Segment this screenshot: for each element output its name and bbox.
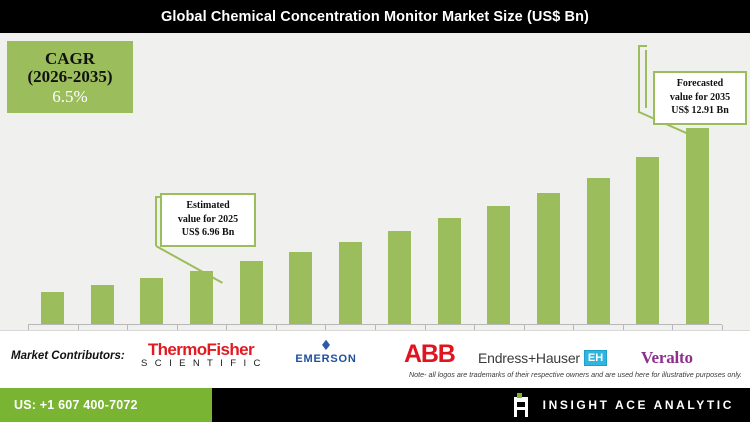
bar-2030-f- — [438, 218, 461, 324]
footer-brand-block: INSIGHT ACE ANALYTIC — [511, 388, 734, 422]
chart-panel: 2022 (A)2023 (A)2024 (A)2025 (E)2026 (F)… — [0, 33, 750, 330]
footer-bar: US: +1 607 400-7072 INSIGHT ACE ANALYTIC — [0, 388, 750, 422]
abb-logo-text: ABB — [404, 341, 455, 369]
bar-2027-f- — [289, 252, 312, 324]
insightace-logo-icon — [511, 393, 531, 417]
bar-2035-f- — [686, 128, 709, 324]
thermo-fisher-logo-bottom: S C I E N T I F I C — [139, 358, 263, 370]
bar-2023-a- — [91, 285, 114, 324]
emerson-logo-text: EMERSON — [286, 353, 366, 367]
bar-2031-f- — [487, 206, 510, 324]
endress-hauser-logo-text: Endress+Hauser — [478, 350, 580, 366]
bar-2034-f- — [636, 157, 659, 324]
thermo-fisher-logo: ThermoFisher S C I E N T I F I C — [139, 341, 263, 370]
cagr-value: 6.5% — [52, 87, 87, 107]
veralto-logo-text: Veralto — [641, 348, 693, 367]
abb-logo: ABB — [404, 341, 455, 369]
veralto-logo: Veralto — [641, 348, 693, 368]
footer-brand-name: INSIGHT ACE ANALYTIC — [543, 398, 734, 412]
forecasted-leader-cap — [645, 50, 647, 108]
bar-2026-f- — [240, 261, 263, 324]
bar-2029-f- — [388, 231, 411, 324]
footer-phone-number: US: +1 607 400-7072 — [0, 398, 138, 412]
emerson-mark-icon: ♦ — [286, 340, 366, 353]
endress-hauser-logo: Endress+Hauser EH — [478, 350, 607, 366]
cagr-label: CAGR — [45, 50, 95, 68]
bar-2024-a- — [140, 278, 163, 324]
bar-2022-a- — [41, 292, 64, 324]
bar-2025-e- — [190, 271, 213, 324]
forecasted-leader-vertical — [638, 45, 640, 113]
cagr-period: (2026-2035) — [28, 67, 113, 87]
estimated-callout-line1: Estimated — [168, 199, 248, 213]
estimated-leader-vertical — [155, 196, 157, 246]
forecasted-callout-line2: value for 2035 — [661, 91, 739, 105]
contributors-label: Market Contributors: — [11, 350, 125, 362]
bar-2028-f- — [339, 242, 362, 324]
forecasted-callout-line3: US$ 12.91 Bn — [661, 104, 739, 118]
trademark-note: Note- all logos are trademarks of their … — [0, 370, 742, 379]
bar-2033-f- — [587, 178, 610, 324]
estimated-callout-line2: value for 2025 — [168, 213, 248, 227]
forecasted-callout-line1: Forecasted — [661, 77, 739, 91]
emerson-logo: ♦ EMERSON — [286, 340, 366, 366]
footer-contact-block: US: +1 607 400-7072 — [0, 388, 212, 422]
page-title: Global Chemical Concentration Monitor Ma… — [161, 9, 589, 25]
thermo-fisher-logo-top: ThermoFisher — [139, 341, 263, 358]
forecasted-leader-stub — [638, 45, 647, 47]
cagr-box: CAGR (2026-2035) 6.5% — [7, 41, 133, 113]
bar-2032-f- — [537, 193, 560, 324]
endress-hauser-badge-icon: EH — [584, 350, 607, 366]
forecasted-value-callout: Forecasted value for 2035 US$ 12.91 Bn — [653, 71, 747, 125]
estimated-callout-line3: US$ 6.96 Bn — [168, 226, 248, 240]
estimated-value-callout: Estimated value for 2025 US$ 6.96 Bn — [160, 193, 256, 247]
title-bar: Global Chemical Concentration Monitor Ma… — [0, 0, 750, 33]
market-size-infographic: Global Chemical Concentration Monitor Ma… — [0, 0, 750, 422]
